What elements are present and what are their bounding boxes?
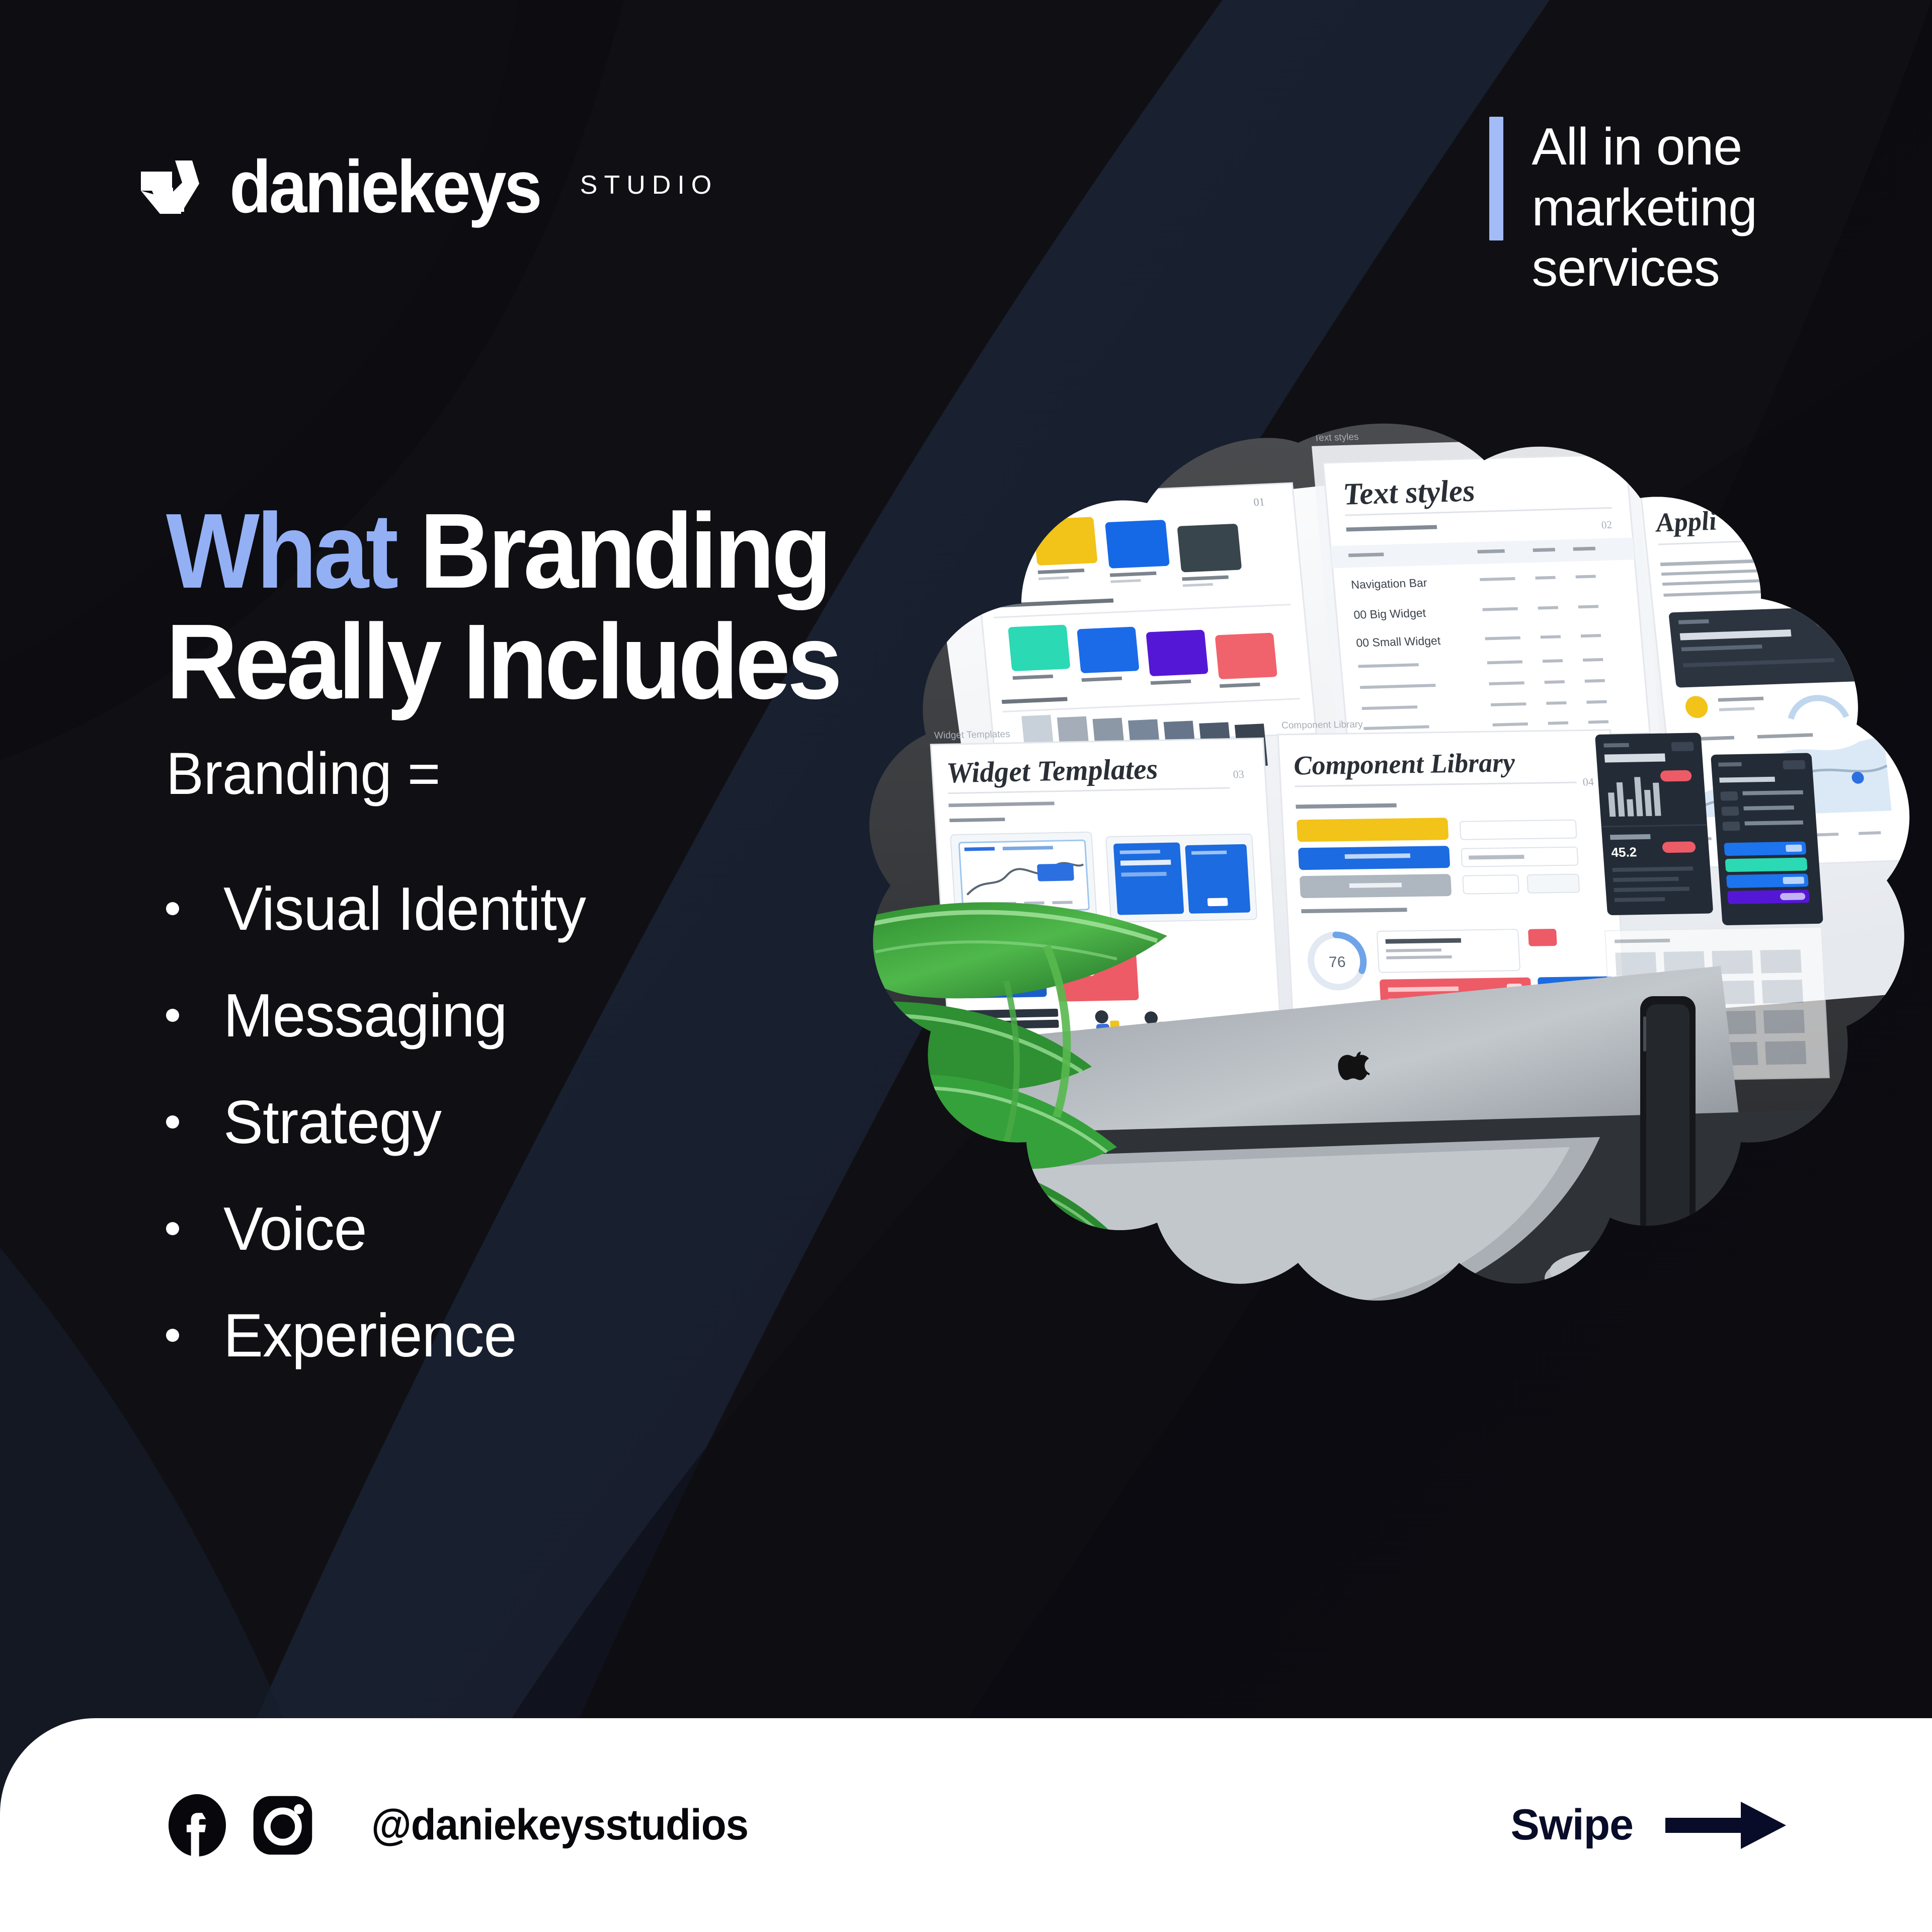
swipe-cta[interactable]: Swipe <box>1510 1798 1786 1853</box>
component-library-title: Component Library <box>1293 747 1516 780</box>
bullet-dot-icon <box>166 1222 179 1235</box>
social-links: @daniekeysstudios <box>166 1794 768 1857</box>
bullet-dot-icon <box>166 1009 179 1022</box>
swatch-blue <box>1105 520 1170 569</box>
widget-templates-title: Widget Templates <box>945 752 1159 789</box>
list-item: Experience <box>166 1282 597 1389</box>
brand-logo[interactable]: daniekeys STUDIO <box>140 150 718 224</box>
social-handle[interactable]: @daniekeysstudios <box>371 1800 748 1850</box>
component-library-caption: Component Library <box>1281 719 1363 731</box>
arrow-right-icon[interactable] <box>1665 1798 1786 1853</box>
dark-dashboard-card <box>1668 606 1878 688</box>
widget-templates-page-number: 03 <box>1233 768 1245 780</box>
button-yellow <box>1297 818 1448 842</box>
list-item-label: Voice <box>223 1193 367 1264</box>
keyboard <box>1207 1358 1701 1469</box>
footer-bar: @daniekeysstudios Swipe <box>0 1718 1932 1932</box>
color-panel-page-number: 01 <box>1253 495 1265 508</box>
text-style-row: Navigation Bar <box>1350 576 1428 591</box>
tagline-text: All in one marketing services <box>1532 117 1757 299</box>
headline-line-2: Really Includes <box>166 602 839 721</box>
swatch-purple <box>1146 630 1208 677</box>
swatch-yellow <box>1033 517 1098 566</box>
swatch-blue-2 <box>1077 627 1139 674</box>
text-styles-title: Text styles <box>1342 474 1476 512</box>
widget-templates-caption: Widget Templates <box>934 729 1010 741</box>
list-item-label: Visual Identity <box>223 873 586 944</box>
phone-on-stand <box>1640 996 1696 1278</box>
list-item-label: Strategy <box>223 1087 441 1157</box>
hero-image: 01 <box>855 413 1932 1469</box>
text-style-row: 00 Big Widget <box>1353 606 1426 621</box>
bullet-dot-icon <box>166 1115 179 1129</box>
text-styles-page-number: 02 <box>1601 519 1613 531</box>
application-panel-title: Appli <box>1653 506 1718 538</box>
poster-canvas: daniekeys STUDIO All in one marketing se… <box>0 0 1932 1932</box>
phone-bar-teal <box>1725 857 1808 872</box>
headline-accent-word: What <box>166 491 395 610</box>
instagram-icon[interactable] <box>252 1794 314 1857</box>
page-title: What Branding Really Includes <box>166 496 839 717</box>
list-item-label: Experience <box>223 1300 516 1371</box>
sublabel: Branding = <box>166 740 440 808</box>
list-item-label: Messaging <box>223 980 507 1051</box>
list-item: Messaging <box>166 962 597 1069</box>
list-item: Strategy <box>166 1069 597 1175</box>
headline-rest: Branding <box>395 491 829 610</box>
tagline: All in one marketing services <box>1489 117 1757 299</box>
benefits-list: Visual Identity Messaging Strategy Voice… <box>166 855 597 1389</box>
gauge-value: 76 <box>1328 954 1346 971</box>
list-item: Visual Identity <box>166 855 597 962</box>
swatch-red <box>1215 633 1277 680</box>
logo-studio-label: STUDIO <box>580 170 718 204</box>
red-pill-1 <box>1660 770 1692 782</box>
swatch-teal <box>1008 625 1070 672</box>
facebook-icon[interactable] <box>166 1794 228 1857</box>
tagline-accent-bar <box>1489 117 1503 240</box>
bullet-dot-icon <box>166 1329 179 1342</box>
component-library-page-number: 04 <box>1582 775 1594 788</box>
red-pill-2 <box>1662 841 1696 853</box>
daniekeys-chevron-mark-icon <box>140 159 208 215</box>
text-styles-caption: Text styles <box>1314 432 1359 443</box>
swipe-label: Swipe <box>1510 1800 1633 1850</box>
logo-wordmark: daniekeys <box>229 150 540 224</box>
hero-cloud-mockup: 01 <box>855 413 1932 1469</box>
svg-text:45.2: 45.2 <box>1611 844 1637 860</box>
text-style-row: 00 Small Widget <box>1355 634 1441 650</box>
swatch-slate <box>1177 524 1242 573</box>
list-item: Voice <box>166 1175 597 1282</box>
bullet-dot-icon <box>166 902 179 915</box>
